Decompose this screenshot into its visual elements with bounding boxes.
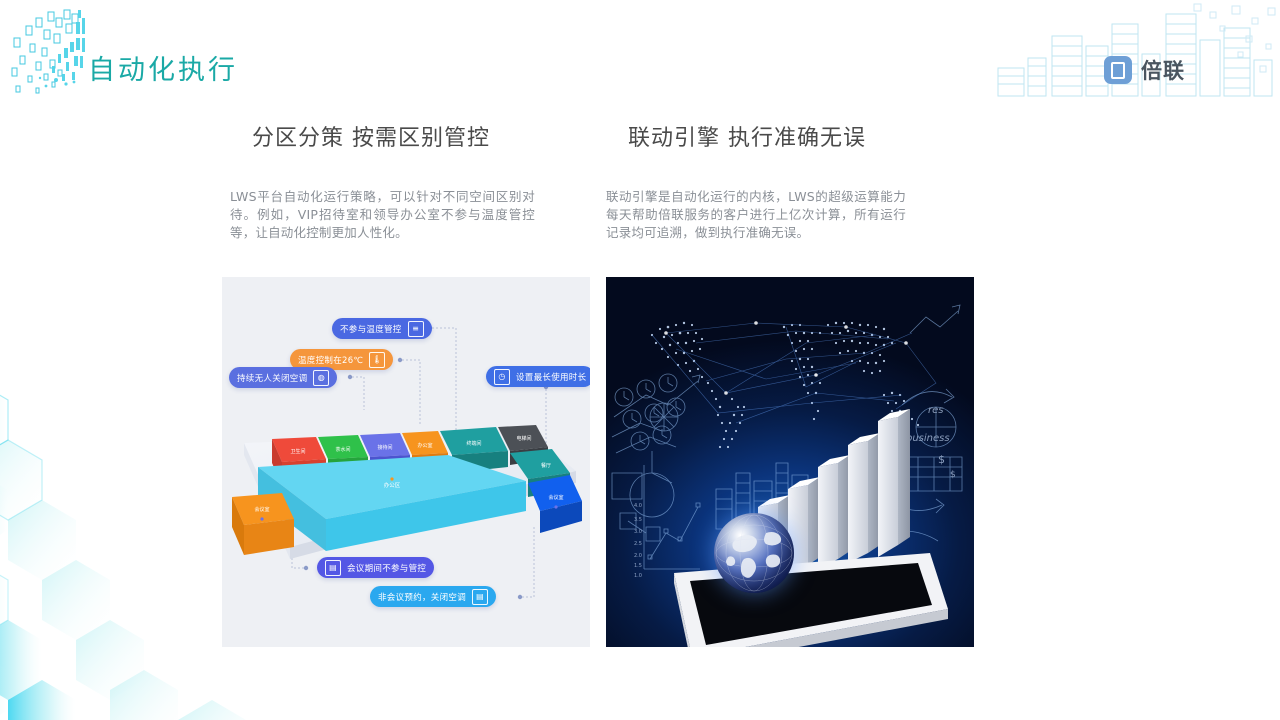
rounded-square-logo-icon [1104, 56, 1132, 84]
slide-root: 自动化执行 倍联 分区分策 按需区别管控 LWS平台自动化运行策略，可以针对不同… [0, 0, 1280, 720]
svg-text:电梯间: 电梯间 [516, 435, 531, 442]
column-left-body: LWS平台自动化运行策略，可以针对不同空间区别对待。例如，VIP招待室和领导办公… [222, 188, 535, 242]
3d-globe [714, 513, 794, 593]
svg-text:办公区: 办公区 [384, 481, 401, 489]
tag-unattended-shutdown[interactable]: 持续无人关闭空调 ◍ [229, 367, 337, 388]
brand-logo: 倍联 [1104, 55, 1185, 85]
svg-text:终端间: 终端间 [466, 440, 481, 447]
svg-text:办公室: 办公室 [417, 442, 432, 449]
tag-no-temperature-control[interactable]: 不参与温度管控 ≡ [332, 318, 432, 339]
floorplan-illustration-panel: 卫生间 茶水间 接待间 办公室 终端间 [222, 277, 590, 647]
tag-label: 设置最长使用时长 [516, 371, 586, 383]
tag-max-duration[interactable]: ◷ 设置最长使用时长 [486, 366, 590, 387]
svg-text:茶水间: 茶水间 [335, 446, 350, 453]
document-list-icon: ≡ [408, 321, 424, 337]
thermometer-icon: 🌡 [369, 352, 385, 368]
svg-text:接待间: 接待间 [377, 444, 392, 451]
tech-illustration-panel: res business $ $ 4.0 3.5 3.0 2.5 2.0 1.5… [606, 277, 974, 647]
column-left: 分区分策 按需区别管控 LWS平台自动化运行策略，可以针对不同空间区别对待。例如… [222, 120, 592, 242]
clock-timer-icon: ◷ [494, 369, 510, 385]
tag-label: 非会议预约，关闭空调 [378, 591, 466, 603]
tag-label: 会议期间不参与管控 [347, 562, 426, 574]
column-left-heading: 分区分策 按需区别管控 [222, 120, 592, 152]
tag-label: 温度控制在26℃ [298, 354, 363, 366]
tag-label: 持续无人关闭空调 [237, 372, 307, 384]
tag-no-booking-shutdown[interactable]: 非会议预约，关闭空调 ▤ [370, 586, 496, 607]
calendar-check-icon: ▤ [472, 589, 488, 605]
city-skyline-decoration [980, 0, 1280, 105]
page-title-bar: 自动化执行 [88, 48, 238, 87]
tag-label: 不参与温度管控 [340, 323, 402, 335]
svg-text:卫生间: 卫生间 [290, 448, 305, 455]
svg-text:会议室: 会议室 [548, 494, 563, 501]
calendar-meeting-icon: ▤ [325, 560, 341, 576]
svg-text:餐厅: 餐厅 [541, 462, 551, 469]
column-right: 联动引擎 执行准确无误 联动引擎是自动化运行的内核，LWS的超级运算能力每天帮助… [606, 120, 976, 242]
brand-name: 倍联 [1141, 55, 1185, 85]
svg-text:会议室: 会议室 [254, 506, 269, 513]
motion-sensor-icon: ◍ [313, 370, 329, 386]
tag-meeting-exempt[interactable]: ▤ 会议期间不参与管控 [317, 557, 434, 578]
page-title: 自动化执行 [88, 48, 238, 87]
column-right-body: 联动引擎是自动化运行的内核，LWS的超级运算能力每天帮助倍联服务的客户进行上亿次… [606, 188, 906, 242]
column-right-heading: 联动引擎 执行准确无误 [606, 120, 976, 152]
